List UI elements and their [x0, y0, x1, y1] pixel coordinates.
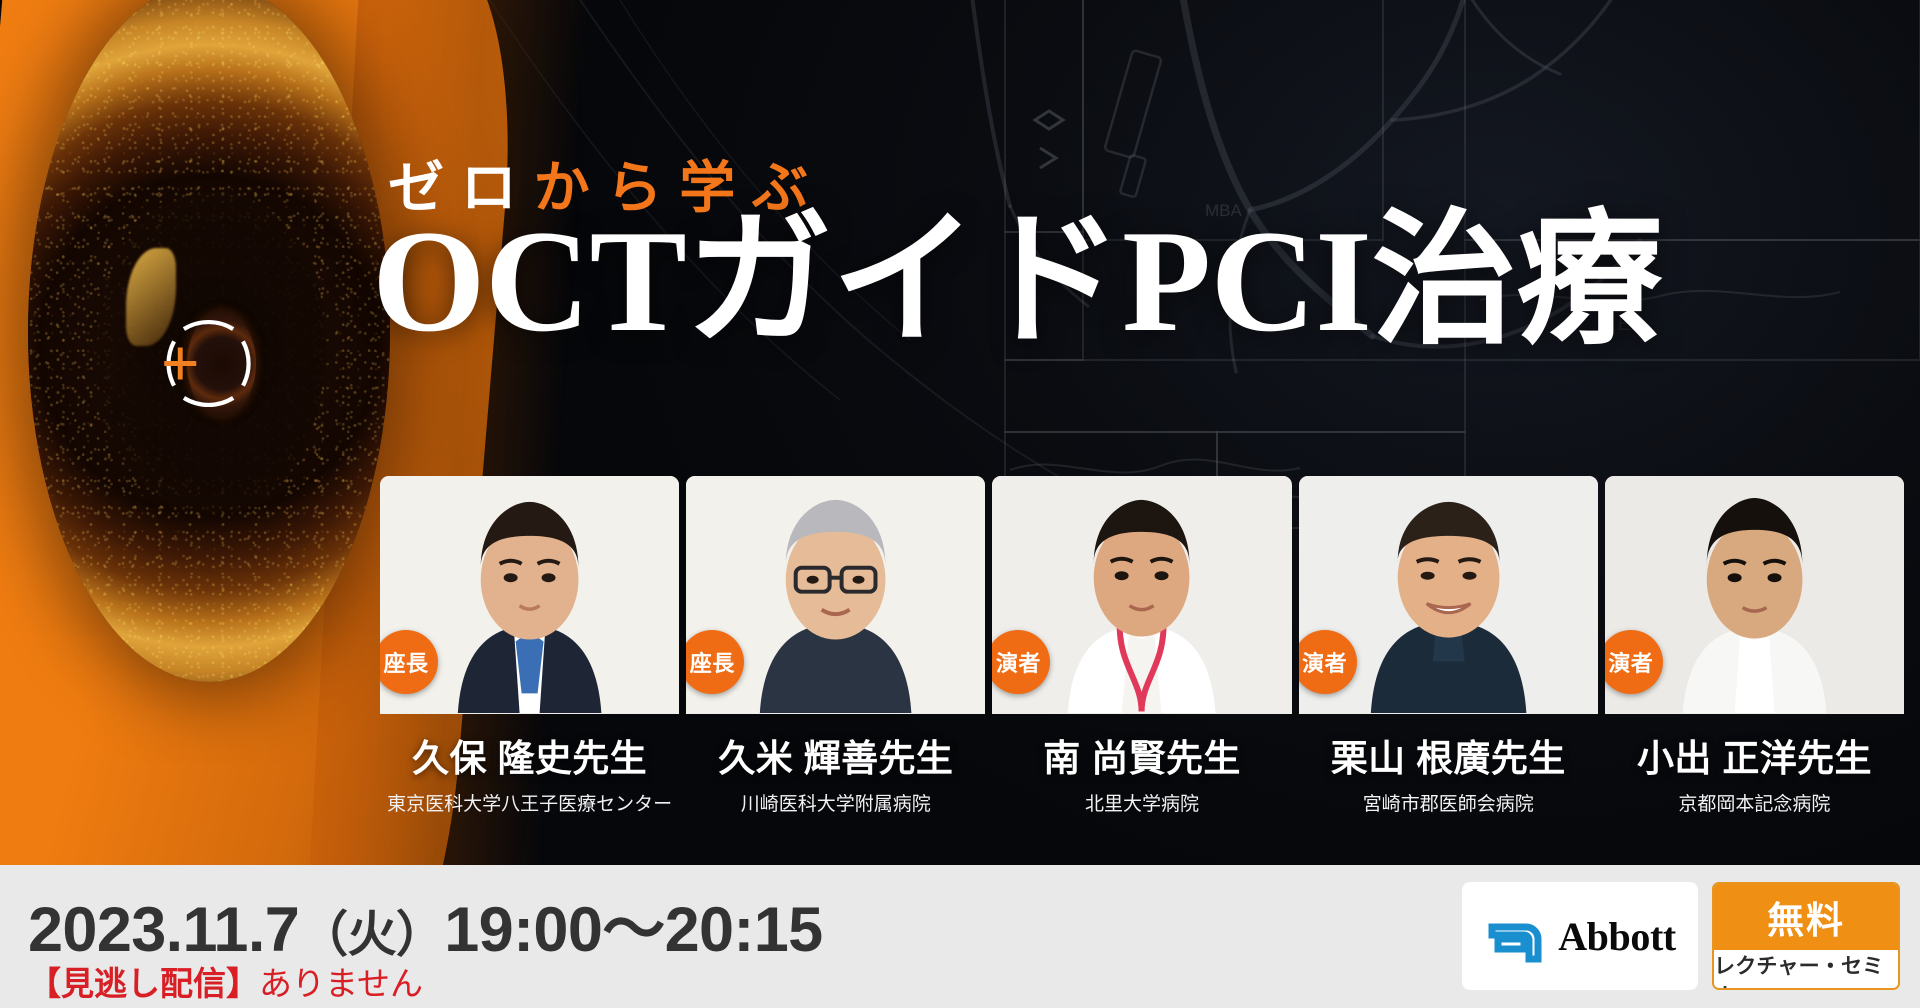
price-badge[interactable]: 無料 レクチャー・セミナー — [1712, 882, 1900, 990]
event-date: 2023.11.7 — [28, 895, 299, 965]
speaker-photo: 演者 — [1605, 476, 1904, 714]
speaker-name: 南 尚賢先生 — [1043, 728, 1241, 782]
speaker-card: 座長 久保 隆史先生 東京医科大学八王子医療センター — [380, 476, 679, 836]
oct-crosshair-overlay — [147, 262, 270, 465]
speaker-organization: 宮崎市郡医師会病院 — [1363, 789, 1534, 816]
speaker-name: 久保 隆史先生 — [412, 728, 647, 782]
replay-availability-note: 【見逃し配信】ありません — [28, 957, 423, 1005]
oct-image — [28, 0, 390, 682]
speaker-photo: 演者 — [1299, 476, 1598, 714]
price-sublabel: レクチャー・セミナー — [1714, 950, 1898, 990]
speaker-name: 小出 正洋先生 — [1637, 728, 1872, 782]
speaker-photo: 座長 — [380, 476, 679, 714]
speaker-list: 座長 久保 隆史先生 東京医科大学八王子医療センター — [380, 476, 1904, 836]
speaker-organization: 東京医科大学八王子医療センター — [387, 789, 672, 816]
speaker-card: 演者 栗山 根廣先生 宮崎市郡医師会病院 — [1299, 476, 1598, 836]
price-label: 無料 — [1714, 884, 1898, 950]
speaker-organization: 京都岡本記念病院 — [1678, 789, 1830, 816]
page-title: OCTガイドPCI治療 — [372, 208, 1662, 354]
replay-note-text: ありません — [259, 965, 423, 1002]
speaker-name: 栗山 根廣先生 — [1331, 728, 1566, 782]
speaker-card: 演者 小出 正洋先生 京都岡本記念病院 — [1605, 476, 1904, 836]
speaker-photo: 座長 — [686, 476, 985, 714]
abbott-mark-icon — [1484, 905, 1546, 967]
speaker-name: 久米 輝善先生 — [718, 728, 953, 782]
replay-note-bracket: 【見逃し配信】 — [28, 965, 259, 1002]
event-weekday: （火） — [299, 908, 444, 962]
speaker-photo: 演者 — [992, 476, 1291, 714]
seminar-banner: MBA EX ゼロから学ぶ OCTガ — [0, 0, 1920, 1008]
speaker-card: 演者 南 尚賢先生 北里大学病院 — [992, 476, 1291, 836]
speaker-organization: 川崎医科大学附属病院 — [741, 789, 931, 816]
sponsor-name: Abbott — [1558, 913, 1676, 960]
sponsor-logo[interactable]: Abbott — [1462, 882, 1698, 990]
event-time: 19:00～20:15 — [444, 895, 822, 965]
speaker-card: 座長 久米 輝善先生 川崎医科大学附属病院 — [686, 476, 985, 836]
footer-bar: 2023.11.7（火）19:00～20:15 【見逃し配信】ありません Abb… — [0, 865, 1920, 1008]
speaker-organization: 北里大学病院 — [1085, 789, 1199, 816]
